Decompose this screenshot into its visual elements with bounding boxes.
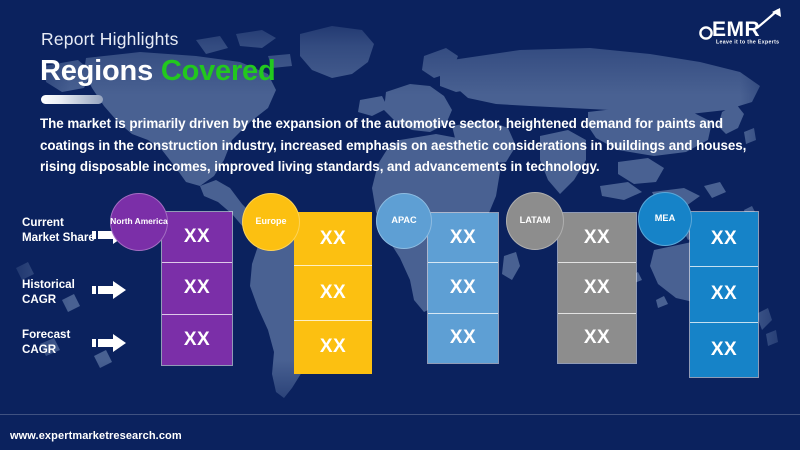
- value-cell: XX: [428, 263, 498, 313]
- page-kicker: Report Highlights: [41, 29, 179, 50]
- row-label-2: Historical CAGR: [22, 278, 98, 307]
- value-cell: XX: [428, 213, 498, 263]
- region-bubble-apac: APAC: [376, 193, 432, 249]
- svg-text:EMR: EMR: [712, 18, 760, 41]
- page-title: Regions Covered: [40, 55, 276, 88]
- logo-arrow-icon: [757, 8, 781, 28]
- value-cell: XX: [690, 267, 758, 322]
- page-title-main: Regions: [40, 55, 153, 87]
- region-column-north-america: XXXXXX: [162, 212, 232, 365]
- value-cell: XX: [162, 263, 232, 314]
- arrow-right-icon: [92, 334, 126, 352]
- region-bubble-mea: MEA: [638, 192, 692, 246]
- value-cell: XX: [558, 314, 636, 363]
- title-underline-rule: [41, 95, 103, 104]
- emr-logo: EMR Leave it to the Experts: [694, 6, 786, 46]
- arrow-right-icon: [92, 281, 126, 299]
- region-column-latam: XXXXXX: [558, 213, 636, 363]
- value-cell: XX: [558, 263, 636, 313]
- region-column-europe: XXXXXX: [294, 212, 372, 374]
- value-cell: XX: [294, 212, 372, 266]
- slide-canvas: EMR Leave it to the Experts Report Highl…: [0, 0, 800, 450]
- value-cell: XX: [162, 315, 232, 365]
- value-cell: XX: [690, 212, 758, 267]
- row-label-3: Forecast CAGR: [22, 328, 98, 357]
- value-cell: XX: [294, 266, 372, 320]
- region-column-apac: XXXXXX: [428, 213, 498, 363]
- intro-paragraph: The market is primarily driven by the ex…: [40, 113, 752, 178]
- logo-circle-icon: [700, 27, 711, 38]
- region-bubble-latam: LATAM: [506, 192, 564, 250]
- region-bubble-north-america: North America: [110, 193, 168, 251]
- region-bubble-europe: Europe: [242, 193, 300, 251]
- region-column-mea: XXXXXX: [690, 212, 758, 377]
- value-cell: XX: [558, 213, 636, 263]
- logo-tagline: Leave it to the Experts: [716, 40, 779, 46]
- footer-url: www.expertmarketresearch.com: [10, 430, 182, 442]
- value-cell: XX: [428, 314, 498, 363]
- value-cell: XX: [690, 323, 758, 377]
- footer-divider: [0, 414, 800, 415]
- row-label-1: Current Market Share: [22, 216, 98, 245]
- value-cell: XX: [162, 212, 232, 263]
- value-cell: XX: [294, 321, 372, 374]
- page-title-accent: Covered: [161, 55, 276, 87]
